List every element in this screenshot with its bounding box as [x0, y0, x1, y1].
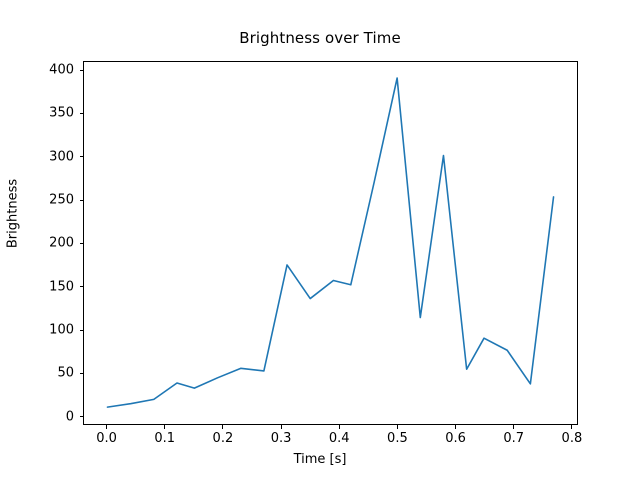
y-tick-label: 50: [57, 366, 74, 381]
x-tick-label: 0.1: [154, 431, 175, 446]
matplotlib-figure: Brightness over Time 0501001502002503003…: [0, 0, 640, 480]
y-tick-label: 300: [49, 149, 74, 164]
x-tick-label: 0.7: [503, 431, 524, 446]
x-tick-mark: [339, 425, 340, 429]
x-tick-label: 0.5: [387, 431, 408, 446]
x-tick-mark: [222, 425, 223, 429]
x-tick-mark: [571, 425, 572, 429]
y-tick-label: 0: [66, 409, 74, 424]
x-tick-mark: [455, 425, 456, 429]
plot-area: [83, 61, 578, 425]
y-tick-label: 350: [49, 106, 74, 121]
x-tick-mark: [164, 425, 165, 429]
x-tick-label: 0.4: [329, 431, 350, 446]
data-line-series: [84, 62, 577, 424]
x-tick-label: 0.2: [213, 431, 234, 446]
x-tick-label: 0.6: [445, 431, 466, 446]
x-tick-mark: [106, 425, 107, 429]
x-tick-label: 0.0: [96, 431, 117, 446]
y-tick-label: 150: [49, 279, 74, 294]
x-tick-mark: [513, 425, 514, 429]
y-axis-label: Brightness: [6, 124, 21, 304]
x-tick-label: 0.3: [271, 431, 292, 446]
x-tick-mark: [281, 425, 282, 429]
x-tick-label: 0.8: [562, 431, 583, 446]
brightness-line: [107, 78, 553, 407]
x-axis-label: Time [s]: [0, 452, 640, 467]
y-tick-label: 200: [49, 236, 74, 251]
y-tick-label: 100: [49, 323, 74, 338]
y-tick-label: 250: [49, 193, 74, 208]
chart-title: Brightness over Time: [0, 29, 640, 47]
x-tick-mark: [397, 425, 398, 429]
y-tick-label: 400: [49, 63, 74, 78]
